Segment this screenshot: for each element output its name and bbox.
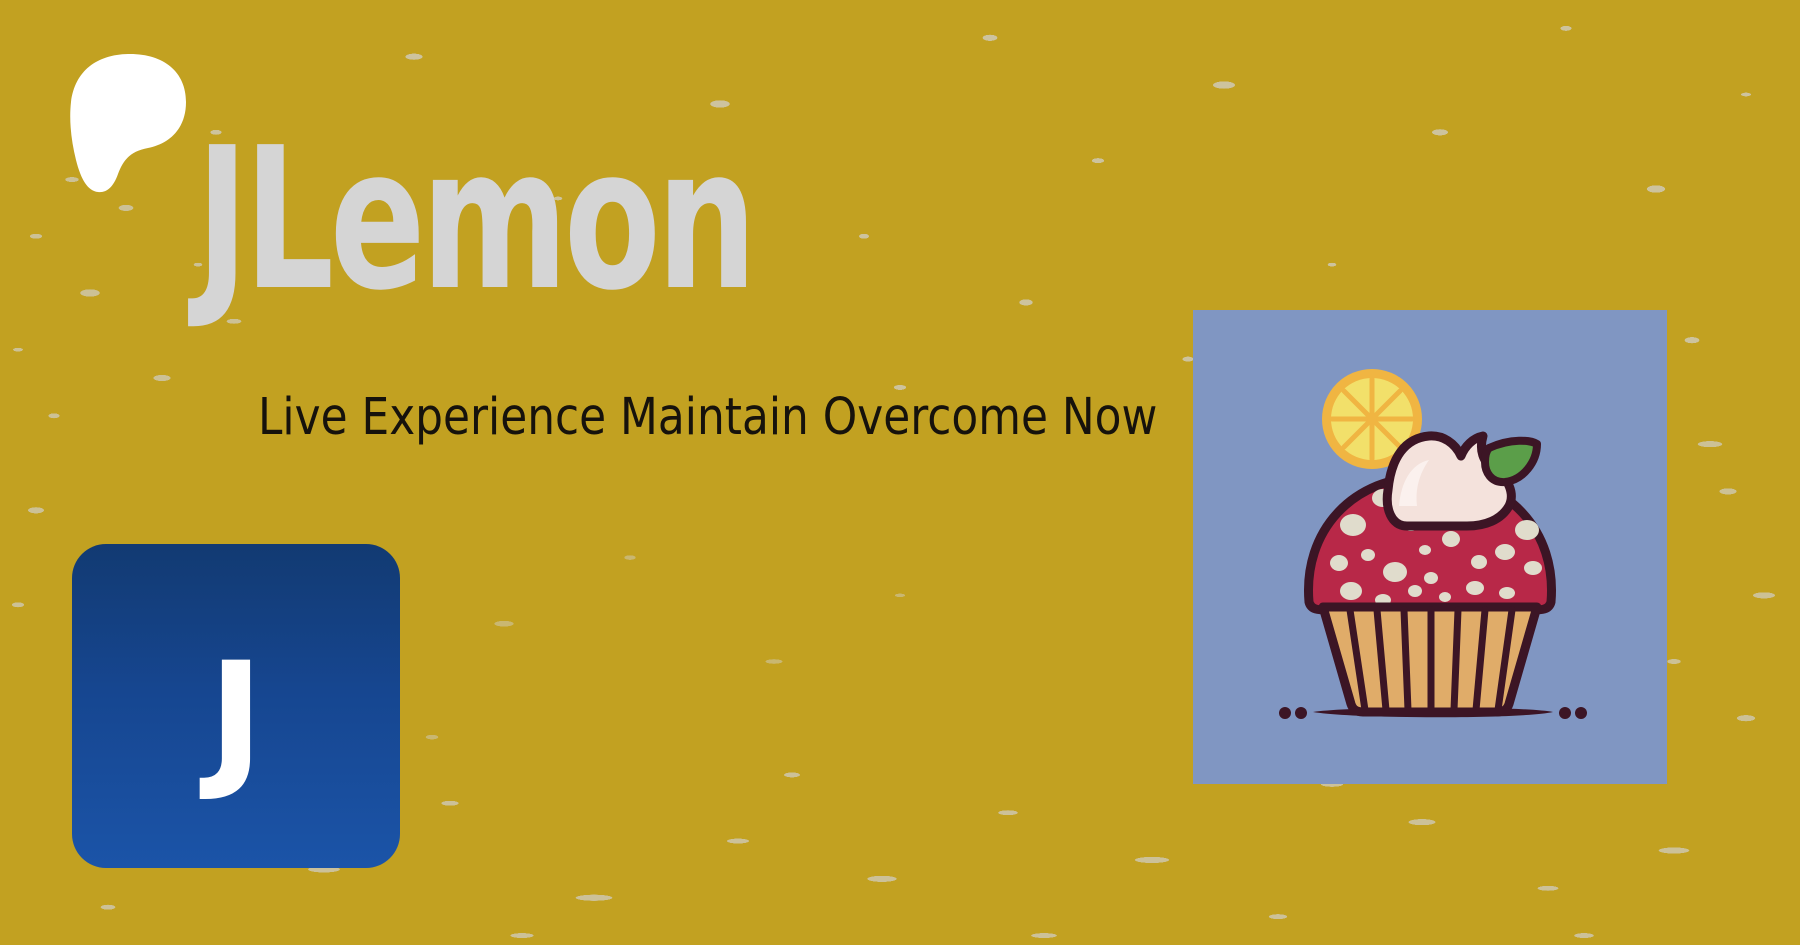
fluted-wrapper-icon bbox=[1323, 607, 1537, 712]
banner-canvas: JLemon Live Experience Maintain Overcome… bbox=[0, 0, 1800, 945]
ground-dot-left-outer bbox=[1295, 707, 1307, 719]
ground-dot-left-inner bbox=[1279, 707, 1291, 719]
page-tagline: Live Experience Maintain Overcome Now bbox=[258, 392, 1157, 443]
cupcake-artwork-panel[interactable] bbox=[1193, 310, 1667, 784]
ground-dot-right-inner bbox=[1559, 707, 1571, 719]
patreon-blob-icon[interactable] bbox=[68, 52, 186, 194]
page-title: JLemon bbox=[196, 122, 753, 318]
initial-avatar-tile[interactable]: J bbox=[72, 544, 400, 868]
initial-letter: J bbox=[208, 643, 264, 793]
green-leaf-icon bbox=[1485, 441, 1537, 482]
ground-shadow-line-icon bbox=[1279, 707, 1587, 719]
ground-dot-right-outer bbox=[1575, 707, 1587, 719]
